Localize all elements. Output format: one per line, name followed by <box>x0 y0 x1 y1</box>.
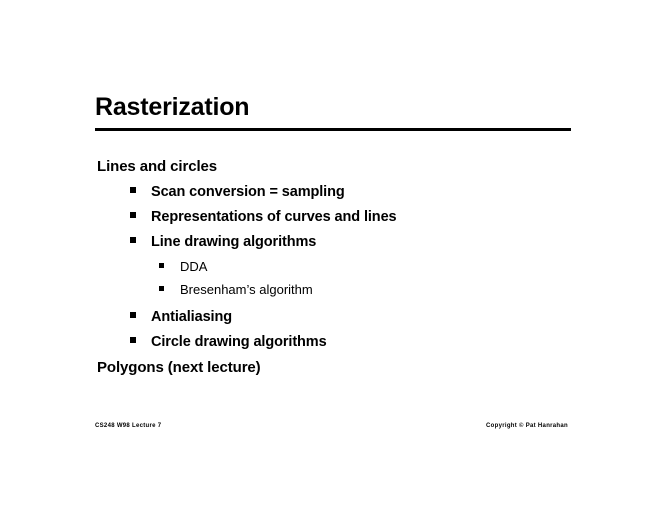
list-item: Bresenham’s algorithm <box>97 282 597 297</box>
outline-text: Bresenham’s algorithm <box>180 282 313 297</box>
footer-course-label: CS248 W98 Lecture 7 <box>95 423 161 429</box>
list-item: Circle drawing algorithms <box>97 334 597 350</box>
outline-list: Lines and circles Scan conversion = samp… <box>97 158 597 385</box>
page-title: Rasterization <box>95 94 571 120</box>
outline-text: Line drawing algorithms <box>151 234 316 250</box>
list-item: Antialiasing <box>97 309 597 325</box>
outline-text: Antialiasing <box>151 309 232 325</box>
list-item: Representations of curves and lines <box>97 209 597 225</box>
square-bullet-icon <box>130 312 136 318</box>
square-bullet-icon <box>130 212 136 218</box>
outline-text: Polygons (next lecture) <box>97 359 261 376</box>
title-divider <box>95 128 571 131</box>
title-block: Rasterization <box>95 94 571 131</box>
square-bullet-icon <box>130 237 136 243</box>
outline-text: Representations of curves and lines <box>151 209 397 225</box>
square-bullet-icon <box>159 286 164 291</box>
list-item: Scan conversion = sampling <box>97 184 597 200</box>
list-item: DDA <box>97 259 597 274</box>
list-item: Polygons (next lecture) <box>97 359 597 376</box>
outline-text: Lines and circles <box>97 158 217 175</box>
square-bullet-icon <box>130 187 136 193</box>
footer-copyright: Copyright © Pat Hanrahan <box>486 423 568 429</box>
list-item: Lines and circles <box>97 158 597 175</box>
square-bullet-icon <box>159 263 164 268</box>
square-bullet-icon <box>130 337 136 343</box>
outline-text: DDA <box>180 259 207 274</box>
list-item: Line drawing algorithms <box>97 234 597 250</box>
outline-text: Scan conversion = sampling <box>151 184 345 200</box>
outline-text: Circle drawing algorithms <box>151 334 327 350</box>
slide-canvas: Rasterization Lines and circles Scan con… <box>0 0 660 510</box>
